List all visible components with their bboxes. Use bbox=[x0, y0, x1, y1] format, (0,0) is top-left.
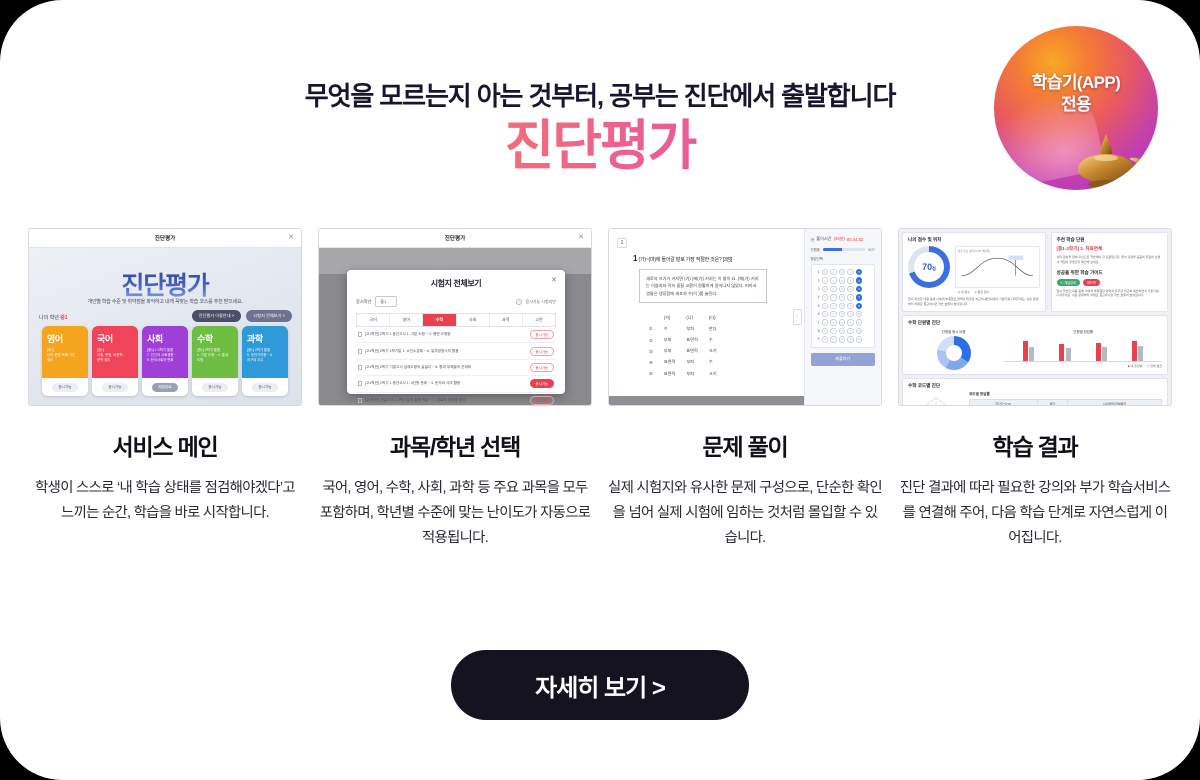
progress: 진행률 5/27 bbox=[811, 247, 875, 252]
choice-row[interactable]: ②부피표면적수 bbox=[649, 335, 726, 344]
passage-box: 세로의 크기가 커지면 (가) )에(가) 커지는 이 쓸이 요. )에(가) … bbox=[639, 269, 767, 303]
hero-section: 무엇을 모르는지 아는 것부터, 공부는 진단에서 출발합니다 진단평가 학습기… bbox=[0, 0, 1200, 210]
omr-row[interactable]: 812345 bbox=[814, 327, 872, 335]
grade-select[interactable]: 중1 bbox=[375, 296, 397, 307]
score-donut: 70점 bbox=[908, 246, 950, 288]
choice-cell: 표면적 bbox=[664, 369, 685, 378]
modal-title: 시험지 전체보기 bbox=[356, 278, 556, 289]
document-icon bbox=[358, 349, 362, 354]
omr-bubble-3[interactable]: 3 bbox=[839, 328, 845, 334]
omr-row-number: 1 bbox=[814, 270, 820, 274]
thumb1-hero-sub: 개인별 학습 수준 및 취약점을 파악하고 내게 꼭맞는 학습 코스를 추천 받… bbox=[29, 298, 301, 305]
omr-row[interactable]: 412345 bbox=[814, 293, 872, 301]
code-table-header: 평가 bbox=[1037, 399, 1068, 406]
subject-tab-5[interactable]: 고전 bbox=[523, 314, 555, 326]
feature-card-service-main[interactable]: 진단평가 ✕ 진단평가 개인별 학습 수준 및 취약점을 파악하고 내게 꼭맞는… bbox=[28, 228, 302, 526]
omr-bubble-2[interactable]: 2 bbox=[830, 328, 836, 334]
thumbnail-problem-solving[interactable]: 1 1 (가)~(마)에 들어갈 말로 가장 적절한 것은? [3점] 세로의 … bbox=[608, 228, 882, 406]
omr-bubble-3[interactable]: 3 bbox=[839, 336, 845, 342]
progress-label: 진행률 bbox=[811, 247, 820, 252]
choice-head: (가) bbox=[664, 313, 685, 322]
thumb2-titlebar: 진단평가 ✕ bbox=[319, 229, 591, 248]
guide-chips: ① 개념강의 피드백 bbox=[1057, 279, 1162, 286]
thumbnail-results[interactable]: 나의 점수 및 위치 70점 점수 분포 (상위 0.1% 백분위) bbox=[898, 228, 1172, 406]
available-only-checkbox[interactable]: ✓ 응시가능 시험지만 bbox=[516, 299, 556, 305]
modal-close-icon[interactable]: ✕ bbox=[551, 277, 557, 284]
paper-row[interactable]: [고1학년] 2학기 1학기말 1. 소인수분해 ~ 6. 일차방정식의 활용응… bbox=[356, 343, 556, 359]
subject-name: 과학 bbox=[247, 332, 283, 345]
bar-group bbox=[1023, 341, 1034, 360]
choice-cell: 표면적 bbox=[686, 347, 707, 356]
omr-bubble-4[interactable]: 4 bbox=[847, 303, 853, 309]
rec-body: 실력 향상을 위해 우선으로 학습해야 할 단원입니다. 풀이 과정을 꼼꼼히 … bbox=[1057, 255, 1162, 265]
omr-bubble-1[interactable]: 1 bbox=[822, 269, 828, 275]
choice-row[interactable]: ③부피표면적크기 bbox=[649, 347, 726, 356]
choice-cell: 부피 bbox=[686, 358, 707, 367]
paper-name: [고1학년] 2학기 1 중간고사 1. 기본 도형 ~ 4. 평면 도형등 bbox=[358, 332, 451, 337]
progress-bar bbox=[823, 248, 866, 251]
unit-bar-block: 단원별 정답률 ■ 내 정답률 ■ 전체 평균 bbox=[1004, 329, 1162, 370]
subject-name: 영어 bbox=[47, 332, 83, 345]
card-desc-1: 학생이 스스로 ‘내 학습 상태를 점검해야겠다’고 느끼는 순간, 학습을 바… bbox=[28, 476, 302, 526]
choice-cell: 표면적 bbox=[664, 358, 685, 367]
chip-feedback[interactable]: 피드백 bbox=[1083, 279, 1100, 286]
card-title-1: 서비스 메인 bbox=[28, 428, 302, 462]
choice-cell: 부피 bbox=[664, 347, 685, 356]
omr-bubble-4[interactable]: 4 bbox=[847, 336, 853, 342]
omr-bubble-5[interactable]: 5 bbox=[856, 277, 862, 283]
radar-chart-icon bbox=[908, 392, 964, 406]
subject-card-0[interactable]: 영어[중1]단어·문법·독해 기본정리응시가능 bbox=[42, 326, 88, 396]
question-text: 1 (가)~(마)에 들어갈 말로 가장 적절한 것은? [3점] bbox=[633, 254, 796, 263]
choice-cell: 수 bbox=[709, 335, 726, 344]
subject-meta: [중1]어휘, 문법, 비문학,문학 정리 bbox=[97, 348, 133, 363]
choice-row[interactable]: ⑤표면적부피크기 bbox=[649, 369, 726, 378]
unit-donut-block: 단원별 응시 비중 bbox=[908, 329, 999, 370]
code-table-block: 코드별 정답률 진단요소(%)평가나의정답/전체평균연산력 bbox=[969, 392, 1162, 406]
subject-name: 수학 bbox=[197, 332, 233, 345]
bar-mine bbox=[1132, 341, 1137, 361]
results-top-row: 나의 점수 및 위치 70점 점수 분포 (상위 0.1% 백분위) bbox=[902, 232, 1168, 315]
choice-cell: ③ bbox=[649, 347, 662, 356]
subject-tabs: 국어영어수학사회과학고전 bbox=[356, 313, 556, 327]
choice-cell: 표면적 bbox=[686, 335, 707, 344]
thumb1-hero-title: 진단평가 bbox=[29, 266, 301, 302]
omr-row-number: 9 bbox=[814, 337, 820, 341]
subject-meta: [중1] 2학기 통합1. 기본 도형 ~ 4. 통계도형 bbox=[197, 348, 233, 363]
thumbnail-service-main[interactable]: 진단평가 ✕ 진단평가 개인별 학습 수준 및 취약점을 파악하고 내게 꼭맞는… bbox=[28, 228, 302, 406]
omr-bubble-1[interactable]: 1 bbox=[822, 336, 828, 342]
choice-cell: 부피 bbox=[664, 335, 685, 344]
omr-bubble-2[interactable]: 2 bbox=[830, 286, 836, 292]
omr-row[interactable]: 212345 bbox=[814, 276, 872, 284]
paper-status: 응시가능 bbox=[530, 363, 554, 372]
clock-icon: ◷ bbox=[811, 237, 815, 242]
grade-value: 중1 bbox=[60, 315, 67, 321]
card-desc-4: 진단 결과에 따라 필요한 강의와 부가 학습서비스를 연결해 주어, 다음 학… bbox=[898, 476, 1172, 550]
choice-cell: 한다 bbox=[709, 324, 726, 333]
omr-row-number: 3 bbox=[814, 287, 820, 291]
unit-bar-chart bbox=[1004, 336, 1162, 362]
subject-tab-4[interactable]: 과학 bbox=[490, 314, 523, 326]
paper-name: [고1학년] 2학기 1학기말 1. 소인수분해 ~ 6. 일차방정식의 활용 bbox=[358, 349, 459, 354]
omr-bubble-2[interactable]: 2 bbox=[830, 336, 836, 342]
timer-label: 풀이시간 bbox=[816, 236, 831, 242]
subject-name: 국어 bbox=[97, 332, 133, 345]
choice-cell: 수 bbox=[709, 358, 726, 367]
bell-curve-icon bbox=[958, 253, 1037, 279]
grade-label: 나의 학년 bbox=[39, 315, 59, 321]
badge-line-2: 전용 bbox=[994, 94, 1158, 116]
code-analysis-panel: 수학 코드별 진단 bbox=[902, 378, 1168, 406]
omr-row[interactable]: 312345 bbox=[814, 285, 872, 293]
next-question-icon[interactable]: › bbox=[793, 309, 802, 325]
score-panel-title: 나의 점수 및 위치 bbox=[908, 237, 1040, 243]
choice-cell: ① bbox=[649, 324, 662, 333]
guide-body: 앞서 학습한 내용 중에 나에게 부족했던 영역과 위주로 차근히 복습하면서 … bbox=[1057, 289, 1162, 299]
omr-bubble-4[interactable]: 4 bbox=[847, 286, 853, 292]
radar-block bbox=[908, 392, 964, 406]
omr-bubble-5[interactable]: 5 bbox=[856, 311, 862, 317]
document-icon bbox=[358, 381, 362, 386]
document-icon bbox=[358, 332, 362, 337]
omr-bubble-4[interactable]: 4 bbox=[847, 269, 853, 275]
guide-title: 성공을 위한 학습 가이드 bbox=[1057, 270, 1162, 276]
choice-head: (나) bbox=[686, 313, 707, 322]
recommendation-panel: 추천 학습 단원 [중1-2학기] 3. 직육면체 실력 향상을 위해 우선으로… bbox=[1051, 232, 1168, 312]
document-icon bbox=[358, 365, 362, 370]
omr-bubble-5[interactable]: 5 bbox=[856, 303, 862, 309]
question-index: 1 bbox=[617, 238, 627, 248]
timer-total: (45분) bbox=[834, 236, 845, 242]
paper-status: 응시가능 bbox=[530, 396, 554, 405]
progress-value: 5/27 bbox=[868, 248, 875, 252]
code-section-title: 수학 코드별 진단 bbox=[908, 383, 1162, 389]
omr-bubble-5[interactable]: 5 bbox=[856, 294, 862, 300]
subject-bottom: 채점완료 bbox=[142, 378, 188, 396]
subject-top: 영어[중1]단어·문법·독해 기본정리 bbox=[42, 326, 88, 378]
omr-bubble-4[interactable]: 4 bbox=[847, 277, 853, 283]
omr-row[interactable]: 612345 bbox=[814, 310, 872, 318]
card-title-4: 학습 결과 bbox=[898, 428, 1172, 462]
badge-label: 학습기(APP) 전용 bbox=[994, 72, 1158, 117]
omr-sheet[interactable]: 1123452123453123454123455123456123457123… bbox=[811, 264, 875, 348]
unit-bar-title: 단원별 정답률 bbox=[1004, 329, 1162, 334]
paper-name: [고1학년] 2학기 기말고사 입체도형의 겉넓이 ~ 5. 원과 부채꼴의 관… bbox=[358, 365, 471, 370]
omr-bubble-3[interactable]: 3 bbox=[839, 277, 845, 283]
choice-table: (가)(나)(다)①수부피한다②부피표면적수③부피표면적크기④표면적부피수⑤표면… bbox=[647, 311, 728, 380]
paper-name: [고1학년] 기말고사 1. 2학기말의 통합 학습 ~ 7. 자료의 정리와 … bbox=[358, 398, 465, 403]
omr-bubble-2[interactable]: 2 bbox=[830, 303, 836, 309]
omr-bubble-1[interactable]: 1 bbox=[822, 311, 828, 317]
subject-card-2[interactable]: 사회[중1] 1·2학기 통합7. 인간과 사회생활 ~9. 한국사회의 변화채… bbox=[142, 326, 188, 396]
choice-cell: 수 bbox=[664, 324, 685, 333]
omr-row[interactable]: 912345 bbox=[814, 335, 872, 343]
subject-name: 사회 bbox=[147, 332, 183, 345]
omr-bubble-2[interactable]: 2 bbox=[830, 311, 836, 317]
score-value: 70점 bbox=[922, 262, 936, 272]
omr-row-number: 4 bbox=[814, 295, 820, 299]
omr-bubble-4[interactable]: 4 bbox=[847, 311, 853, 317]
subject-card-1[interactable]: 국어[중1]어휘, 문법, 비문학,문학 정리응시가능 bbox=[92, 326, 138, 396]
score-panel: 나의 점수 및 위치 70점 점수 분포 (상위 0.1% 백분위) bbox=[902, 232, 1046, 312]
check-icon: ✓ bbox=[516, 299, 522, 305]
omr-bubble-5[interactable]: 5 bbox=[856, 286, 862, 292]
omr-bubble-2[interactable]: 2 bbox=[830, 319, 836, 325]
omr-bubble-5[interactable]: 5 bbox=[856, 336, 862, 342]
omr-row-number: 8 bbox=[814, 329, 820, 333]
subject-bottom: 응시가능 bbox=[92, 378, 138, 396]
subject-tab-2[interactable]: 수학 bbox=[423, 314, 456, 326]
bar-avg bbox=[1102, 347, 1107, 360]
omr-bubble-1[interactable]: 1 bbox=[822, 303, 828, 309]
bar-avg bbox=[1029, 347, 1034, 361]
unit-donut-title: 단원별 응시 비중 bbox=[908, 329, 999, 334]
score-explanation: 앞서 학습한 내용 중에 나에게 부족했던 영역과 위주로 차근히 복습하면서 … bbox=[908, 297, 1040, 307]
bar-mine bbox=[1059, 344, 1064, 361]
omr-bubble-1[interactable]: 1 bbox=[822, 294, 828, 300]
distribution-chart: 점수 분포 (상위 0.1% 백분위) bbox=[955, 246, 1040, 288]
omr-bubble-3[interactable]: 3 bbox=[839, 294, 845, 300]
omr-bubble-1[interactable]: 1 bbox=[822, 328, 828, 334]
close-icon[interactable]: ✕ bbox=[288, 234, 294, 241]
bar-group bbox=[1132, 341, 1143, 361]
feature-card-results[interactable]: 나의 점수 및 위치 70점 점수 분포 (상위 0.1% 백분위) bbox=[898, 228, 1172, 550]
omr-row[interactable]: 512345 bbox=[814, 302, 872, 310]
omr-row-number: 7 bbox=[814, 321, 820, 325]
question-pane: 1 1 (가)~(마)에 들어갈 말로 가장 적절한 것은? [3점] 세로의 … bbox=[609, 229, 804, 406]
thumb1-buttons: 진단평가 이용안내 > 시험지 전체보기 > bbox=[192, 310, 292, 322]
bar-group bbox=[1059, 344, 1070, 361]
omr-bubble-4[interactable]: 4 bbox=[847, 328, 853, 334]
grade-select-group[interactable]: 응시학년 중1 bbox=[356, 296, 397, 307]
omr-bubble-2[interactable]: 2 bbox=[830, 277, 836, 283]
unit-donut-chart bbox=[937, 336, 971, 370]
omr-bubble-3[interactable]: 3 bbox=[839, 319, 845, 325]
choice-cell: ④ bbox=[649, 358, 662, 367]
omr-bubble-1[interactable]: 1 bbox=[822, 277, 828, 283]
omr-bubble-2[interactable]: 2 bbox=[830, 269, 836, 275]
choice-cell: 크기 bbox=[709, 347, 726, 356]
omr-bubble-2[interactable]: 2 bbox=[830, 294, 836, 300]
subject-tab-0[interactable]: 국어 bbox=[357, 314, 390, 326]
papers-modal[interactable]: 시험지 전체보기 ✕ 응시학년 중1 ✓ 응시가능 시험지만 bbox=[347, 270, 565, 394]
document-icon bbox=[358, 398, 362, 403]
feature-card-subject-select[interactable]: 진단평가 ✕ 시험지 전체보기 ✕ 응시학년 중1 bbox=[318, 228, 592, 550]
paper-status: 응시가능 bbox=[530, 330, 554, 339]
choice-cell: 부피 bbox=[686, 324, 707, 333]
detail-button[interactable]: 자세히 보기 > bbox=[451, 650, 749, 720]
thumb1-window-title: 진단평가 bbox=[29, 234, 301, 242]
bar-avg bbox=[1138, 346, 1143, 361]
choice-cell: ② bbox=[649, 335, 662, 344]
choice-row[interactable]: ④표면적부피수 bbox=[649, 358, 726, 367]
omr-bubble-3[interactable]: 3 bbox=[839, 303, 845, 309]
omr-pane: ◷ 풀이시간 (45분) 00:44:53 진행률 5/27 정답선택 1123… bbox=[804, 229, 881, 406]
paper-row[interactable]: [고1학년] 1학기 1 중간고사 1. 4단원 문제 ~ 3. 문자와 식의 … bbox=[356, 376, 556, 392]
omr-bubble-4[interactable]: 4 bbox=[847, 294, 853, 300]
bar-avg bbox=[1066, 348, 1071, 361]
omr-bubble-4[interactable]: 4 bbox=[847, 319, 853, 325]
timer: ◷ 풀이시간 (45분) 00:44:53 bbox=[811, 236, 875, 242]
thumb2-window-title: 진단평가 bbox=[319, 234, 591, 242]
omr-bubble-5[interactable]: 5 bbox=[856, 269, 862, 275]
rec-title: 추천 학습 단원 bbox=[1057, 237, 1162, 243]
card-title-3: 문제 풀이 bbox=[608, 428, 882, 462]
unit-section-title: 수학 단원별 진단 bbox=[908, 320, 1162, 326]
omr-bubble-5[interactable]: 5 bbox=[856, 328, 862, 334]
thumb4-body: 나의 점수 및 위치 70점 점수 분포 (상위 0.1% 백분위) bbox=[899, 229, 1171, 406]
genie-lamp-icon bbox=[1060, 122, 1152, 188]
score-legend: ● 내 점수 ● 평균 점수 bbox=[908, 290, 1040, 294]
omr-bubble-3[interactable]: 3 bbox=[839, 311, 845, 317]
omr-bubble-5[interactable]: 5 bbox=[856, 319, 862, 325]
subject-status: 채점완료 bbox=[152, 383, 177, 392]
subject-meta: [중1] 1·2학기 통합7. 인간과 사회생활 ~9. 한국사회의 변화 bbox=[147, 348, 183, 363]
code-table-header: 진단요소(%) bbox=[970, 399, 1038, 406]
subject-status: 응시가능 bbox=[52, 383, 77, 392]
omr-bubble-1[interactable]: 1 bbox=[822, 286, 828, 292]
subject-top: 과학[중1] 2학기 통합5. 정전기작용 ~ 6.지구와 우주 bbox=[242, 326, 288, 378]
question-badge: 1 bbox=[633, 254, 637, 263]
subject-status: 응시가능 bbox=[102, 383, 127, 392]
subject-tab-3[interactable]: 사회 bbox=[457, 314, 490, 326]
card-title-2: 과목/학년 선택 bbox=[318, 428, 592, 462]
modal-controls: 응시학년 중1 ✓ 응시가능 시험지만 bbox=[356, 296, 556, 307]
thumbnail-subject-select[interactable]: 진단평가 ✕ 시험지 전체보기 ✕ 응시학년 중1 bbox=[318, 228, 592, 406]
chip-concept[interactable]: ① 개념강의 bbox=[1057, 279, 1080, 286]
rec-subtitle: [중1-2학기] 3. 직육면체 bbox=[1057, 246, 1162, 252]
subject-top: 수학[중1] 2학기 통합1. 기본 도형 ~ 4. 통계도형 bbox=[192, 326, 238, 378]
unit-analysis-panel: 수학 단원별 진단 단원별 응시 비중 단원별 정답률 bbox=[902, 315, 1168, 375]
timer-value: 00:44:53 bbox=[847, 237, 863, 242]
feature-card-problem-solving[interactable]: 1 1 (가)~(마)에 들어갈 말로 가장 적절한 것은? [3점] 세로의 … bbox=[608, 228, 882, 550]
subject-card-4[interactable]: 과학[중1] 2학기 통합5. 정전기작용 ~ 6.지구와 우주응시가능 bbox=[242, 326, 288, 396]
checkbox-label: 응시가능 시험지만 bbox=[525, 299, 556, 305]
paper-row[interactable]: [고1학년] 2학기 1 중간고사 1. 기본 도형 ~ 4. 평면 도형등응시… bbox=[356, 327, 556, 343]
thumb1-grade: 나의 학년 중1 bbox=[39, 314, 68, 321]
choice-cell: ⑤ bbox=[649, 369, 662, 378]
paper-list: [고1학년] 2학기 1 중간고사 1. 기본 도형 ~ 4. 평면 도형등응시… bbox=[356, 327, 556, 406]
thumb1-body: 진단평가 개인별 학습 수준 및 취약점을 파악하고 내게 꼭맞는 학습 코스를… bbox=[29, 248, 301, 406]
thumb3-body: 1 1 (가)~(마)에 들어갈 말로 가장 적절한 것은? [3점] 세로의 … bbox=[609, 229, 881, 406]
paper-status: 응시가능 bbox=[530, 347, 554, 356]
paper-name: [고1학년] 1학기 1 중간고사 1. 4단원 문제 ~ 3. 문자와 식의 … bbox=[358, 381, 460, 386]
subject-tab-1[interactable]: 영어 bbox=[390, 314, 423, 326]
subject-bottom: 응시가능 bbox=[192, 378, 238, 396]
subject-bottom: 응시가능 bbox=[242, 378, 288, 396]
subject-meta: [중1]단어·문법·독해 기본정리 bbox=[47, 348, 83, 363]
omr-row-number: 2 bbox=[814, 279, 820, 283]
subject-card-3[interactable]: 수학[중1] 2학기 통합1. 기본 도형 ~ 4. 통계도형응시가능 bbox=[192, 326, 238, 396]
promo-page: 무엇을 모르는지 아는 것부터, 공부는 진단에서 출발합니다 진단평가 학습기… bbox=[0, 0, 1200, 780]
subject-top: 국어[중1]어휘, 문법, 비문학,문학 정리 bbox=[92, 326, 138, 378]
paper-row[interactable]: [고1학년] 2학기 기말고사 입체도형의 겉넓이 ~ 5. 원과 부채꼴의 관… bbox=[356, 360, 556, 376]
omr-bubble-3[interactable]: 3 bbox=[839, 269, 845, 275]
app-only-badge: 학습기(APP) 전용 bbox=[994, 26, 1158, 190]
bar-legend: ■ 내 정답률 ■ 전체 평균 bbox=[1004, 364, 1162, 368]
thumb1-titlebar: 진단평가 ✕ bbox=[29, 229, 301, 248]
card-desc-3: 실제 시험지와 유사한 문제 구성으로, 단순한 확인을 넘어 실제 시험에 임… bbox=[608, 476, 882, 550]
omr-row-number: 5 bbox=[814, 304, 820, 308]
thumb3-footer bbox=[609, 396, 805, 406]
badge-line-1: 학습기(APP) bbox=[994, 72, 1158, 94]
card-desc-2: 국어, 영어, 수학, 사회, 과학 등 주요 과목을 모두 포함하며, 학년별… bbox=[318, 476, 592, 550]
subject-card-list: 영어[중1]단어·문법·독해 기본정리응시가능국어[중1]어휘, 문법, 비문학… bbox=[42, 326, 288, 396]
close-icon[interactable]: ✕ bbox=[578, 234, 584, 241]
code-table: 진단요소(%)평가나의정답/전체평균연산력 bbox=[969, 399, 1162, 406]
subject-status: 응시가능 bbox=[252, 383, 277, 392]
bar-mine bbox=[1023, 341, 1028, 360]
omr-label: 정답선택 bbox=[811, 256, 875, 261]
omr-row[interactable]: 712345 bbox=[814, 318, 872, 326]
choice-head: (다) bbox=[709, 313, 726, 322]
thumb2-body: 시험지 전체보기 ✕ 응시학년 중1 ✓ 응시가능 시험지만 bbox=[319, 248, 591, 406]
omr-row[interactable]: 112345 bbox=[814, 268, 872, 276]
subject-top: 사회[중1] 1·2학기 통합7. 인간과 사회생활 ~9. 한국사회의 변화 bbox=[142, 326, 188, 378]
subject-status: 응시가능 bbox=[202, 383, 227, 392]
guide-button[interactable]: 진단평가 이용안내 > bbox=[192, 310, 242, 322]
omr-bubble-3[interactable]: 3 bbox=[839, 286, 845, 292]
all-papers-button[interactable]: 시험지 전체보기 > bbox=[246, 310, 292, 322]
grade-select-label: 응시학년 bbox=[356, 299, 371, 305]
paper-status: 응시가능 bbox=[530, 379, 554, 388]
choice-cell: 부피 bbox=[686, 369, 707, 378]
code-table-header: 나의정답/전체평균 bbox=[1068, 399, 1162, 406]
paper-row[interactable]: [고1학년] 기말고사 1. 2학기말의 통합 학습 ~ 7. 자료의 정리와 … bbox=[356, 393, 556, 407]
bar-group bbox=[1096, 343, 1107, 361]
submit-button[interactable]: 제출하기 bbox=[811, 353, 875, 366]
omr-bubble-1[interactable]: 1 bbox=[822, 319, 828, 325]
subject-bottom: 응시가능 bbox=[42, 378, 88, 396]
code-table-note: 코드별 정답률 bbox=[969, 392, 990, 397]
choice-cell: 크기 bbox=[709, 369, 726, 378]
bar-mine bbox=[1096, 343, 1101, 361]
subject-meta: [중1] 2학기 통합5. 정전기작용 ~ 6.지구와 우주 bbox=[247, 348, 283, 363]
omr-row-number: 6 bbox=[814, 312, 820, 316]
question-prompt: (가)~(마)에 들어갈 말로 가장 적절한 것은? [3점] bbox=[638, 257, 732, 263]
choice-row[interactable]: ①수부피한다 bbox=[649, 324, 726, 333]
